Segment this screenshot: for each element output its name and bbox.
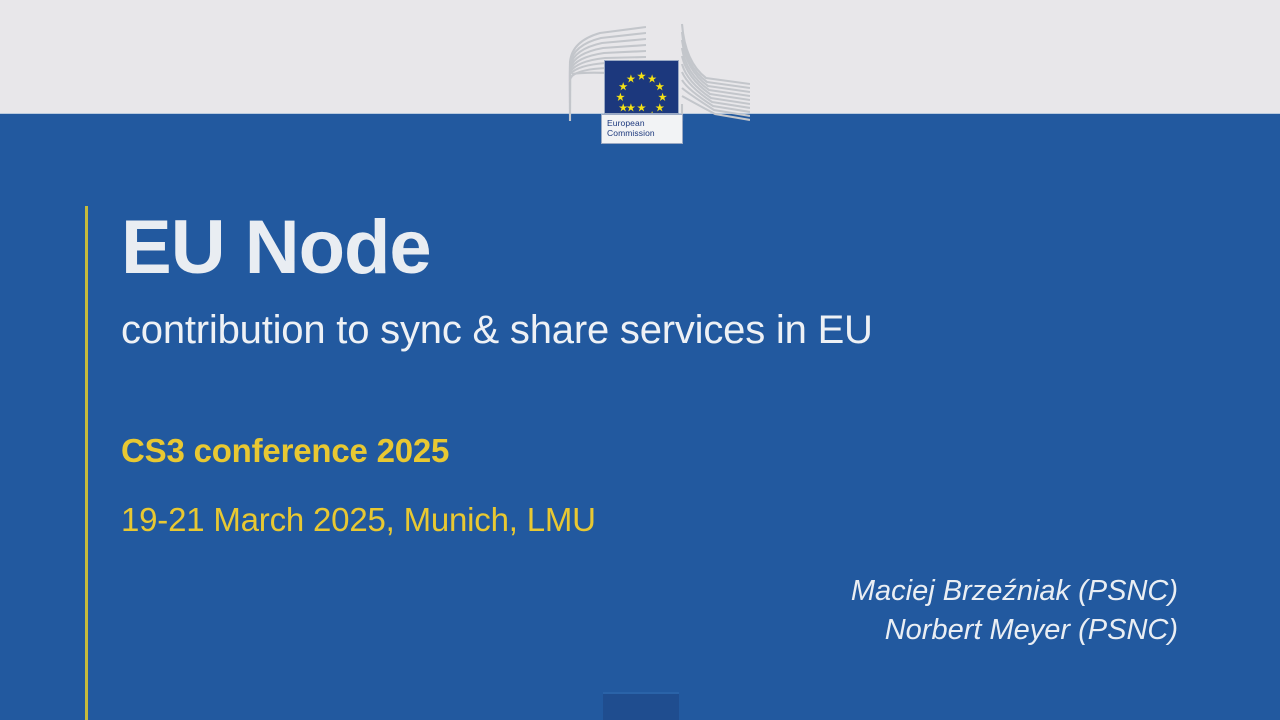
bottom-partial-graphic: [603, 692, 679, 720]
ec-label-line-2: Commission: [607, 128, 682, 138]
event-date-location: 19-21 March 2025, Munich, LMU: [121, 501, 596, 539]
european-commission-logo: European Commission: [560, 22, 750, 144]
author-name: Maciej Brzeźniak (PSNC): [851, 572, 1178, 611]
logo-swoosh-right-icon: [676, 22, 750, 124]
european-commission-label: European Commission: [601, 114, 683, 144]
eu-flag-icon: [604, 60, 679, 114]
author-list: Maciej Brzeźniak (PSNC) Norbert Meyer (P…: [851, 572, 1178, 650]
conference-name: CS3 conference 2025: [121, 432, 449, 470]
slide-subtitle: contribution to sync & share services in…: [121, 308, 873, 352]
ec-label-line-1: European: [607, 118, 682, 128]
author-name: Norbert Meyer (PSNC): [851, 611, 1178, 650]
accent-bar: [85, 206, 88, 720]
presentation-slide: European Commission EU Node contribution…: [0, 0, 1280, 720]
slide-title: EU Node: [121, 210, 431, 286]
